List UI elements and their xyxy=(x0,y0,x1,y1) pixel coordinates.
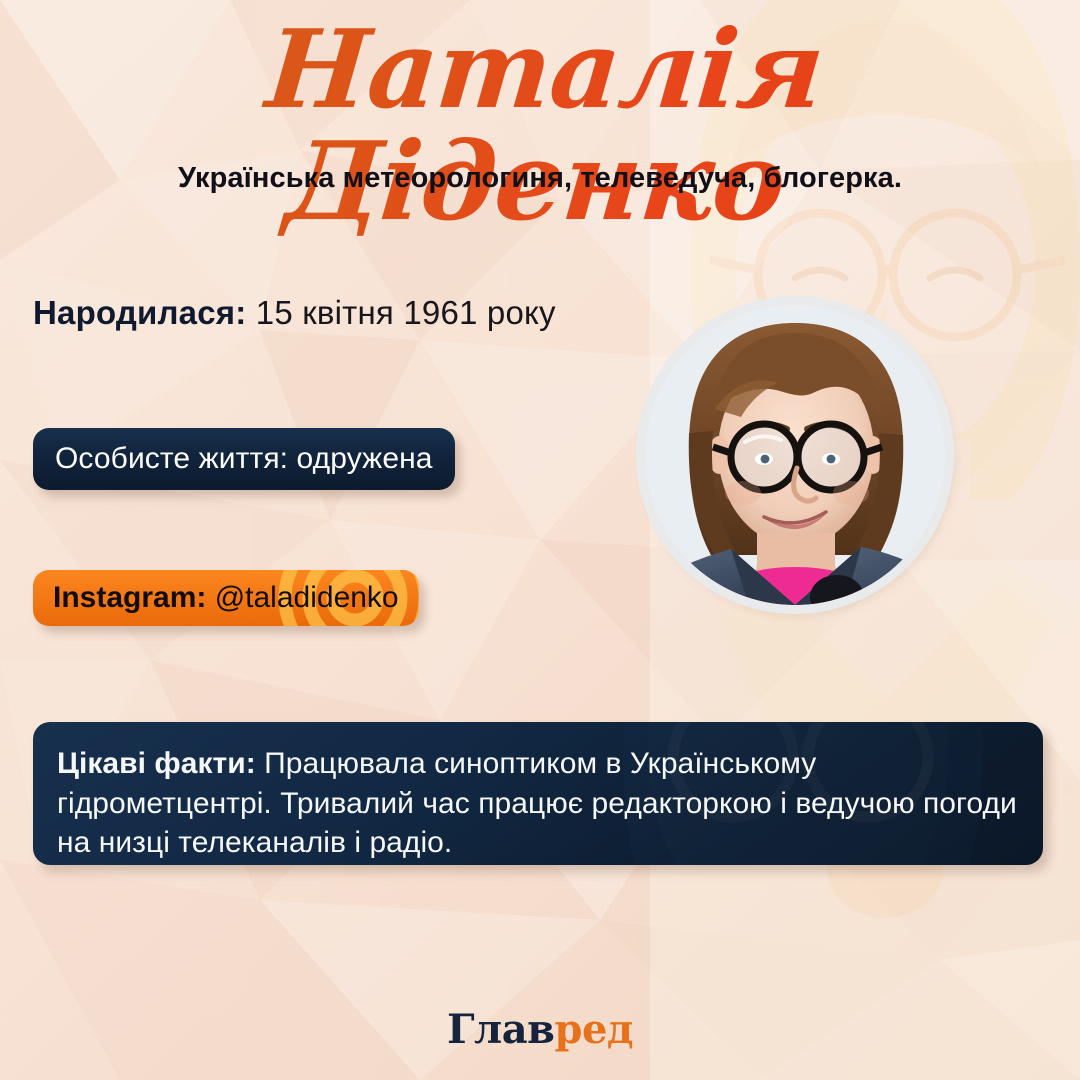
instagram-text: Instagram: @taladidenko xyxy=(53,581,399,615)
interesting-facts-box: Цікаві факти: Працювала синоптиком в Укр… xyxy=(33,722,1043,865)
born-value: 15 квітня 1961 року xyxy=(246,294,555,331)
born-line: Народилася: 15 квітня 1961 року xyxy=(33,294,556,332)
born-label: Народилася: xyxy=(33,294,246,331)
infographic-card: Наталія Діденко Українська метеорологиня… xyxy=(0,0,1080,1080)
instagram-handle[interactable]: @taladidenko xyxy=(206,581,398,614)
personal-life-label: Особисте життя: одружена xyxy=(55,442,433,476)
instagram-badge[interactable]: Instagram: @taladidenko xyxy=(33,570,419,626)
portrait-photo xyxy=(645,305,945,605)
facts-text: Цікаві факти: Працювала синоптиком в Укр… xyxy=(33,722,1043,863)
logo-part-dark: Глав xyxy=(447,1006,555,1053)
brand-logo[interactable]: Главред xyxy=(0,1006,1080,1053)
personal-life-badge[interactable]: Особисте життя: одружена xyxy=(33,428,455,490)
title-block: Наталія Діденко xyxy=(0,14,1080,239)
logo-part-orange: ред xyxy=(554,1006,633,1053)
page-title: Наталія Діденко xyxy=(0,14,1080,239)
instagram-label: Instagram: xyxy=(53,581,206,614)
avatar xyxy=(645,305,945,605)
subtitle: Українська метеорологиня, телеведуча, бл… xyxy=(0,162,1080,195)
facts-label: Цікаві факти: xyxy=(57,747,256,780)
